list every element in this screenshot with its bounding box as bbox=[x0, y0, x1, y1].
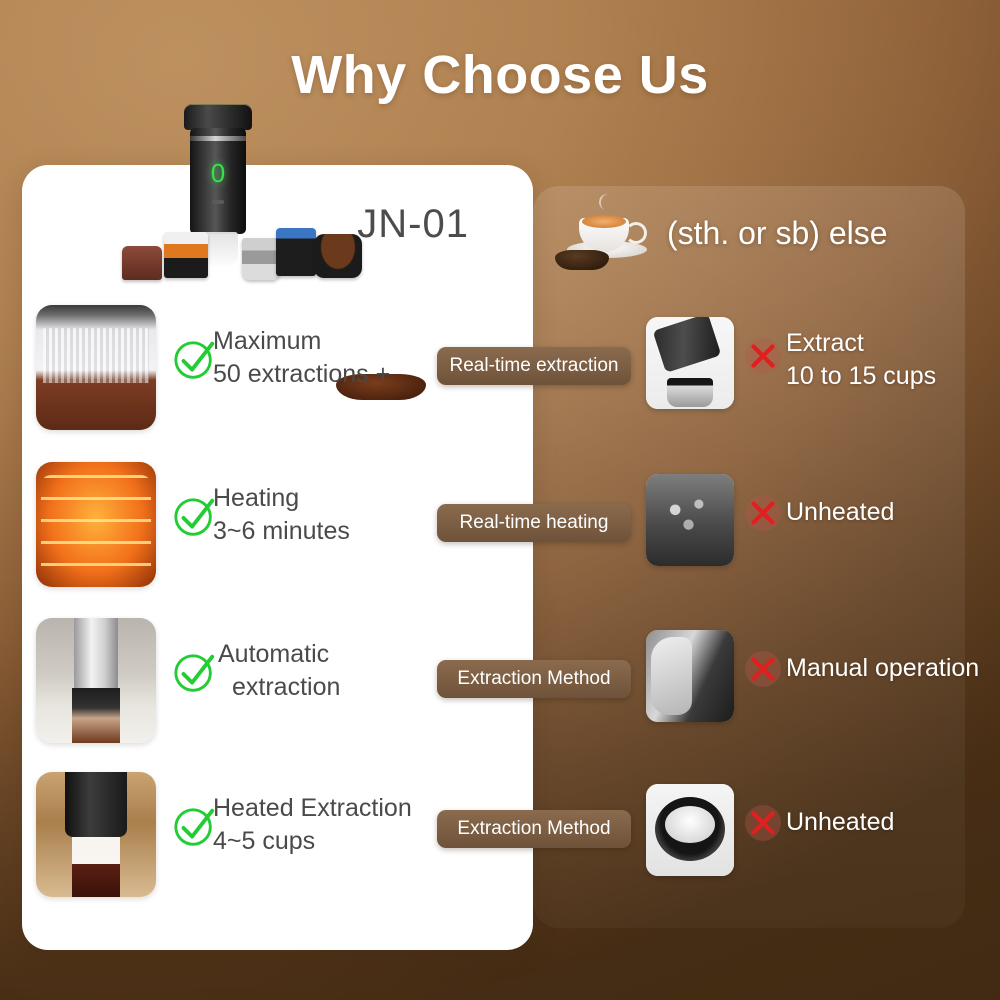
heated-extraction-thumbnail bbox=[36, 772, 156, 897]
category-pill: Extraction Method bbox=[437, 810, 631, 848]
check-circle-icon bbox=[172, 337, 218, 383]
feature-line-1: Unheated bbox=[786, 808, 894, 836]
feature-line-2: 4~5 cups bbox=[213, 825, 443, 858]
cross-circle-icon bbox=[744, 650, 782, 688]
feature-line-1: Maximum bbox=[213, 327, 321, 355]
product-feature-text: Maximum 50 extractions + bbox=[213, 325, 443, 391]
hand-pressing-thumbnail bbox=[646, 630, 734, 722]
comparison-rows: Maximum 50 extractions + Real-time extra… bbox=[0, 0, 1000, 1000]
product-feature-text: Heating 3~6 minutes bbox=[213, 482, 443, 548]
pouring-machine-thumbnail bbox=[646, 317, 734, 409]
competitor-feature-text: Unheated bbox=[786, 806, 1000, 839]
category-pill: Real-time heating bbox=[437, 504, 631, 542]
feature-line-2: 3~6 minutes bbox=[213, 515, 443, 548]
cross-circle-icon bbox=[744, 494, 782, 532]
feature-line-2: 10 to 15 cups bbox=[786, 360, 1000, 393]
heating-coil-thumbnail bbox=[36, 462, 156, 587]
category-pill: Real-time extraction bbox=[437, 347, 631, 385]
check-circle-icon bbox=[172, 804, 218, 850]
brew-cup-thumbnail bbox=[36, 305, 156, 430]
cross-circle-icon bbox=[744, 337, 782, 375]
page-title: Why Choose Us bbox=[0, 44, 1000, 106]
category-pill: Extraction Method bbox=[437, 660, 631, 698]
feature-line-1: Extract bbox=[786, 329, 864, 357]
infographic-canvas: Why Choose Us 0 JN-01 bbox=[0, 0, 1000, 1000]
feature-line-1: Manual operation bbox=[786, 654, 979, 682]
cross-circle-icon bbox=[744, 804, 782, 842]
feature-line-2: extraction bbox=[218, 671, 448, 704]
filter-ring-thumbnail bbox=[646, 784, 734, 876]
comparison-row: Heated Extraction 4~5 cups Extraction Me… bbox=[0, 772, 1000, 907]
product-feature-text: Heated Extraction 4~5 cups bbox=[213, 792, 443, 858]
comparison-row: Maximum 50 extractions + Real-time extra… bbox=[0, 305, 1000, 440]
comparison-row: Automatic extraction Extraction Method M… bbox=[0, 618, 1000, 753]
automatic-machine-thumbnail bbox=[36, 618, 156, 743]
comparison-row: Heating 3~6 minutes Real-time heating Un… bbox=[0, 462, 1000, 597]
check-circle-icon bbox=[172, 650, 218, 696]
competitor-feature-text: Extract 10 to 15 cups bbox=[786, 327, 1000, 393]
feature-line-1: Heating bbox=[213, 484, 299, 512]
feature-line-1: Automatic bbox=[218, 640, 329, 668]
feature-line-2: 50 extractions + bbox=[213, 358, 443, 391]
feature-line-1: Heated Extraction bbox=[213, 794, 412, 822]
feature-line-1: Unheated bbox=[786, 498, 894, 526]
competitor-feature-text: Manual operation bbox=[786, 652, 1000, 685]
product-feature-text: Automatic extraction bbox=[218, 638, 448, 704]
competitor-feature-text: Unheated bbox=[786, 496, 1000, 529]
check-circle-icon bbox=[172, 494, 218, 540]
cold-water-thumbnail bbox=[646, 474, 734, 566]
